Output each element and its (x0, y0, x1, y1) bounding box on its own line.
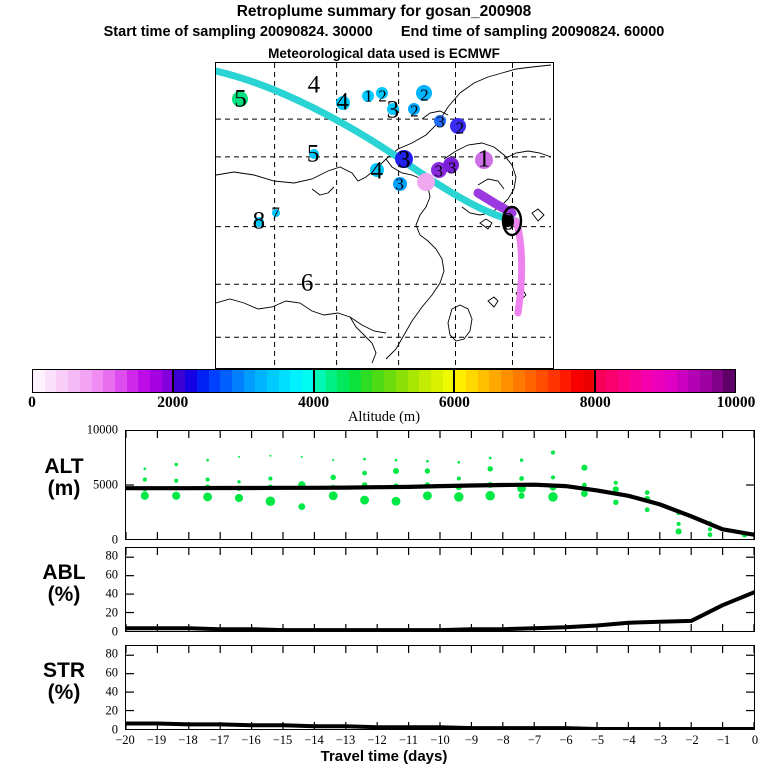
alt-mass-bubble (548, 492, 558, 502)
colorbar-swatch (220, 370, 232, 392)
map-day-label: 4 (308, 73, 321, 98)
y-axis-tick: 20 (58, 606, 118, 621)
alt-mass-bubble (425, 468, 430, 473)
colorbar-swatch (173, 370, 185, 392)
x-axis-tick: −16 (241, 733, 261, 748)
end-time-label: End time of sampling 20090824. 60000 (401, 24, 665, 40)
colorbar-swatch (115, 370, 127, 392)
alt-mass-bubble (423, 491, 432, 500)
map-day-label: 1 (478, 147, 491, 172)
colorbar-swatch (431, 370, 443, 392)
y-axis-tick: 40 (58, 685, 118, 700)
alt-mass-bubble (298, 503, 305, 510)
alt-plot-panel[interactable] (125, 430, 755, 540)
x-axis-tick: −2 (685, 733, 698, 748)
colorbar-swatch (665, 370, 677, 392)
colorbar-swatch (454, 370, 466, 392)
alt-mass-bubble (489, 457, 492, 460)
colorbar-swatch (525, 370, 537, 392)
alt-mass-bubble (581, 465, 587, 471)
alt-mass-bubble (551, 475, 555, 479)
x-axis-tick: 0 (752, 733, 758, 748)
sampling-times: Start time of sampling 20090824. 30000En… (0, 24, 768, 40)
plume-centroid-dot (417, 173, 435, 191)
start-time-label: Start time of sampling 20090824. 30000 (104, 24, 373, 40)
map-day-label: 2 (378, 87, 387, 104)
str-plot-panel[interactable] (125, 645, 755, 730)
x-axis-tick: −20 (115, 733, 135, 748)
x-axis-tick: −3 (654, 733, 667, 748)
alt-mass-bubble (519, 476, 524, 481)
alt-mass-bubble (143, 478, 147, 482)
abl-plot-panel[interactable] (125, 547, 755, 632)
alt-plot-graphics (126, 431, 754, 539)
y-axis-tick: 0 (58, 533, 118, 548)
page-title: Retroplume summary for gosan_200908 (0, 3, 768, 21)
x-axis-tick: −9 (465, 733, 478, 748)
colorbar-swatch (642, 370, 654, 392)
colorbar-swatch (408, 370, 420, 392)
colorbar-swatch (384, 370, 396, 392)
colorbar-swatch (361, 370, 373, 392)
alt-mass-bubble (519, 493, 525, 499)
colorbar-swatch (653, 370, 665, 392)
y-axis-tick: 80 (58, 549, 118, 564)
map-day-label: 3 (436, 114, 445, 131)
colorbar-swatch (103, 370, 115, 392)
alt-mass-bubble (426, 460, 429, 463)
x-axis-tick: −5 (591, 733, 604, 748)
colorbar-swatch (618, 370, 630, 392)
str-plot-graphics (126, 646, 754, 729)
x-axis-tick: −11 (399, 733, 418, 748)
alt-mass-bubble (172, 492, 180, 500)
alt-mass-bubble (645, 507, 650, 512)
colorbar-swatch (197, 370, 209, 392)
map-day-label: 8 (253, 208, 266, 233)
colorbar-swatch (688, 370, 700, 392)
colorbar-swatch (56, 370, 68, 392)
alt-mass-bubble (332, 459, 334, 461)
colorbar-separator (313, 369, 315, 393)
alt-mass-bubble (454, 492, 464, 502)
x-axis-tick: −18 (178, 733, 198, 748)
alt-mass-bubble (206, 459, 209, 462)
alt-mass-bubble (393, 468, 399, 474)
colorbar-swatch (560, 370, 572, 392)
colorbar-swatch (536, 370, 548, 392)
alt-mass-bubble (676, 528, 682, 534)
alt-mass-bubble (613, 500, 618, 505)
colorbar-swatch (326, 370, 338, 392)
y-axis-tick: 0 (58, 723, 118, 738)
alt-mass-bubble (329, 491, 338, 500)
map-day-label: 3 (448, 159, 457, 176)
colorbar-swatch (33, 370, 45, 392)
x-axis-title: Travel time (days) (0, 748, 768, 765)
alt-mass-bubble (301, 456, 303, 458)
x-axis-tick: −8 (496, 733, 509, 748)
alt-mass-bubble (551, 451, 555, 455)
map-day-label: 2 (420, 86, 429, 103)
colorbar-separator (172, 369, 174, 393)
colorbar-separator (594, 369, 596, 393)
alt-mass-bubble (268, 476, 272, 480)
map-day-label: 3 (398, 147, 411, 172)
map-day-label: 1 (364, 88, 373, 105)
colorbar-swatch (337, 370, 349, 392)
alt-mean-line (126, 485, 754, 535)
colorbar-swatch (279, 370, 291, 392)
x-axis-tick: −14 (304, 733, 324, 748)
x-axis-tick: −17 (210, 733, 230, 748)
map-day-label: 3 (395, 176, 404, 193)
alt-mass-bubble (392, 497, 401, 506)
alt-mass-bubble (360, 496, 369, 505)
y-axis-tick: 60 (58, 568, 118, 583)
alt-mass-bubble (645, 490, 650, 495)
alt-mass-bubble (395, 459, 398, 462)
alt-mass-bubble (677, 522, 681, 526)
x-axis-tick: −19 (147, 733, 167, 748)
x-axis-tick: −13 (336, 733, 356, 748)
alt-mass-bubble (487, 466, 492, 471)
map-day-label: 3 (435, 162, 444, 179)
alt-mass-bubble (363, 458, 366, 461)
map-graphics (216, 63, 551, 366)
map-day-label: 0 (502, 210, 515, 235)
alt-mass-bubble (235, 494, 243, 502)
alt-mass-bubble (237, 480, 240, 483)
map-day-label: 4 (336, 89, 349, 114)
y-axis-tick: 5000 (58, 478, 118, 493)
colorbar-swatch (548, 370, 560, 392)
colorbar-swatch (571, 370, 583, 392)
alt-mass-bubble (141, 492, 149, 500)
colorbar-swatch (466, 370, 478, 392)
colorbar-swatch (712, 370, 724, 392)
colorbar-separator (453, 369, 455, 393)
colorbar-swatch (68, 370, 80, 392)
alt-mass-bubble (708, 527, 712, 531)
alt-mass-bubble (457, 461, 460, 464)
alt-mass-bubble (457, 476, 461, 480)
colorbar-swatch (478, 370, 490, 392)
alt-mass-bubble (175, 463, 178, 466)
alt-mass-bubble (614, 481, 618, 485)
colorbar-swatch (501, 370, 513, 392)
colorbar-swatch (267, 370, 279, 392)
x-axis-tick: −1 (717, 733, 730, 748)
colorbar-swatch (396, 370, 408, 392)
colorbar-swatch (372, 370, 384, 392)
abl-plot-graphics (126, 548, 754, 631)
colorbar-swatch (677, 370, 689, 392)
alt-mass-bubble (266, 496, 276, 506)
map-day-label: 5 (234, 86, 247, 111)
colorbar-swatch (349, 370, 361, 392)
alt-mass-bubble (708, 532, 713, 537)
alt-mass-bubble (330, 475, 335, 480)
x-axis-tick: −7 (528, 733, 541, 748)
colorbar-swatch (138, 370, 150, 392)
colorbar-swatch (513, 370, 525, 392)
colorbar-swatch (489, 370, 501, 392)
colorbar-swatch (630, 370, 642, 392)
x-axis-tick: −15 (273, 733, 293, 748)
y-axis-tick: 60 (58, 666, 118, 681)
alt-mass-bubble (206, 478, 210, 482)
colorbar-swatch (700, 370, 712, 392)
alt-mass-bubble (581, 490, 588, 497)
map-day-label: 7 (271, 204, 280, 221)
y-axis-tick: 10000 (58, 423, 118, 438)
colorbar-swatch (127, 370, 139, 392)
colorbar-swatch (92, 370, 104, 392)
alt-label-line1: ALT (8, 456, 120, 478)
map-day-label: 2 (410, 102, 419, 119)
colorbar-swatch (232, 370, 244, 392)
meteorology-label: Meteorological data used is ECMWF (0, 46, 768, 61)
colorbar-swatch (244, 370, 256, 392)
plume-track-lower (516, 221, 522, 313)
map-day-label: 3 (387, 97, 400, 122)
alt-mass-bubble (143, 467, 146, 470)
alt-mass-bubble (485, 491, 495, 501)
colorbar-swatch (606, 370, 618, 392)
retroplume-map[interactable]: 011222233333344455786 (215, 62, 554, 369)
alt-mass-bubble (203, 492, 212, 501)
x-axis-tick: −4 (622, 733, 635, 748)
colorbar-swatch (150, 370, 162, 392)
colorbar-swatch (80, 370, 92, 392)
colorbar-swatch (723, 370, 735, 392)
map-day-label: 2 (456, 119, 465, 136)
map-day-label: 5 (307, 141, 320, 166)
colorbar-swatch (583, 370, 595, 392)
colorbar-swatch (209, 370, 221, 392)
colorbar-swatch (255, 370, 267, 392)
y-axis-tick: 80 (58, 647, 118, 662)
colorbar-swatch (314, 370, 326, 392)
y-axis-tick: 0 (58, 625, 118, 640)
x-axis-tick: −10 (430, 733, 450, 748)
colorbar-swatch (185, 370, 197, 392)
alt-mass-bubble (362, 471, 367, 476)
map-day-label: 6 (301, 270, 314, 295)
alt-mass-bubble (238, 456, 240, 458)
map-day-label: 4 (371, 158, 384, 183)
colorbar-swatch (419, 370, 431, 392)
colorbar-swatch (45, 370, 57, 392)
y-axis-tick: 40 (58, 587, 118, 602)
y-axis-tick: 20 (58, 704, 118, 719)
alt-mass-bubble (174, 479, 178, 483)
colorbar-swatch (595, 370, 607, 392)
alt-mass-bubble (269, 455, 271, 457)
x-axis-tick: −6 (559, 733, 572, 748)
x-axis-tick: −12 (367, 733, 387, 748)
altitude-colorbar[interactable] (32, 369, 736, 393)
alt-mass-bubble (520, 459, 523, 462)
colorbar-swatch (290, 370, 302, 392)
